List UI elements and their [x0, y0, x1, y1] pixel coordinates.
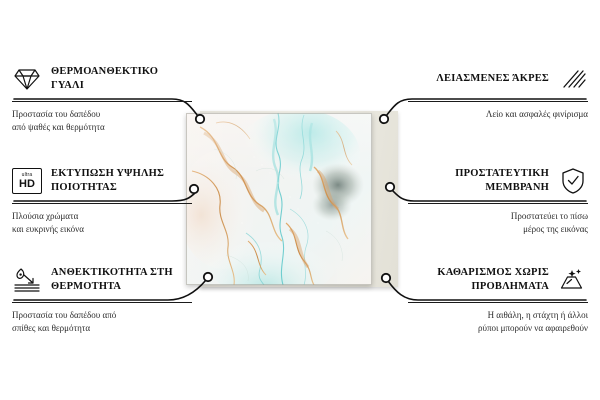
- polished-edges-icon: [558, 64, 588, 94]
- easy-clean-icon: [558, 265, 588, 295]
- feature-description: Λείο και ασφαλές φινίρισμα: [408, 108, 588, 121]
- feature-heat-durability: ΑΝΘΕΚΤΙΚΟΤΗΤΑ ΣΤΗ ΘΕΡΜΟΤΗΤΑ Προστασία το…: [12, 263, 192, 335]
- feature-high-quality-print: ultra HD ΕΚΤΥΠΩΣΗ ΥΨΗΛΗΣ ΠΟΙΟΤΗΤΑΣ Πλούσ…: [12, 164, 192, 236]
- feature-header: ΘΕΡΜΟΑΝΘΕΚΤΙΚΟ ΓΥΑΛΙ: [12, 62, 192, 96]
- feature-description: Προστασία του δαπέδου από ψαθές και θερμ…: [12, 108, 192, 134]
- glass-front-panel: [186, 113, 372, 285]
- shield-check-icon: [558, 166, 588, 196]
- feature-header: ΠΡΟΣΤΑΤΕΥΤΙΚΗ ΜΕΜΒΡΑΝΗ: [408, 164, 588, 198]
- divider: [408, 101, 588, 102]
- feature-title: ΛΕΙΑΣΜΕΝΕΣ ΆΚΡΕΣ: [408, 72, 549, 86]
- feature-description: Η αιθάλη, η στάχτη ή άλλοι ρύποι μπορούν…: [408, 309, 588, 335]
- feature-easy-cleaning: ΚΑΘΑΡΙΣΜΟΣ ΧΩΡΙΣ ΠΡΟΒΛΗΜΑΤΑ Η αιθάλη, η …: [408, 263, 588, 335]
- feature-header: ΑΝΘΕΚΤΙΚΟΤΗΤΑ ΣΤΗ ΘΕΡΜΟΤΗΤΑ: [12, 263, 192, 297]
- divider: [12, 203, 192, 204]
- infographic-canvas: ΘΕΡΜΟΑΝΘΕΚΤΙΚΟ ΓΥΑΛΙ Προστασία του δαπέδ…: [0, 0, 600, 400]
- feature-header: ΛΕΙΑΣΜΕΝΕΣ ΆΚΡΕΣ: [408, 62, 588, 96]
- divider: [12, 101, 192, 102]
- feature-header: ultra HD ΕΚΤΥΠΩΣΗ ΥΨΗΛΗΣ ΠΟΙΟΤΗΤΑΣ: [12, 164, 192, 198]
- diamond-icon: [12, 64, 42, 94]
- ultra-hd-small-label: ultra: [22, 173, 33, 178]
- feature-title: ΘΕΡΜΟΑΝΘΕΚΤΙΚΟ ΓΥΑΛΙ: [51, 65, 192, 93]
- feature-header: ΚΑΘΑΡΙΣΜΟΣ ΧΩΡΙΣ ΠΡΟΒΛΗΜΑΤΑ: [408, 263, 588, 297]
- heat-resistance-icon: [12, 265, 42, 295]
- feature-title: ΠΡΟΣΤΑΤΕΥΤΙΚΗ ΜΕΜΒΡΑΝΗ: [408, 167, 549, 195]
- divider: [408, 203, 588, 204]
- feature-title: ΑΝΘΕΚΤΙΚΟΤΗΤΑ ΣΤΗ ΘΕΡΜΟΤΗΤΑ: [51, 266, 192, 294]
- feature-polished-edges: ΛΕΙΑΣΜΕΝΕΣ ΆΚΡΕΣ Λείο και ασφαλές φινίρι…: [408, 62, 588, 121]
- feature-protective-membrane: ΠΡΟΣΤΑΤΕΥΤΙΚΗ ΜΕΜΒΡΑΝΗ Προστατεύει το πί…: [408, 164, 588, 236]
- feature-description: Πλούσια χρώματα και ευκρινής εικόνα: [12, 210, 192, 236]
- feature-heat-resistant-glass: ΘΕΡΜΟΑΝΘΕΚΤΙΚΟ ΓΥΑΛΙ Προστασία του δαπέδ…: [12, 62, 192, 134]
- ultra-hd-icon: ultra HD: [12, 166, 42, 196]
- product-image: [186, 113, 398, 285]
- divider: [408, 302, 588, 303]
- divider: [12, 302, 192, 303]
- feature-description: Προστασία του δαπέδου από σπίθες και θερ…: [12, 309, 192, 335]
- feature-title: ΕΚΤΥΠΩΣΗ ΥΨΗΛΗΣ ΠΟΙΟΤΗΤΑΣ: [51, 167, 192, 195]
- feature-title: ΚΑΘΑΡΙΣΜΟΣ ΧΩΡΙΣ ΠΡΟΒΛΗΜΑΤΑ: [408, 266, 549, 294]
- feature-description: Προστατεύει το πίσω μέρος της εικόνας: [408, 210, 588, 236]
- ultra-hd-large-label: HD: [19, 179, 35, 190]
- marble-artwork: [186, 113, 372, 285]
